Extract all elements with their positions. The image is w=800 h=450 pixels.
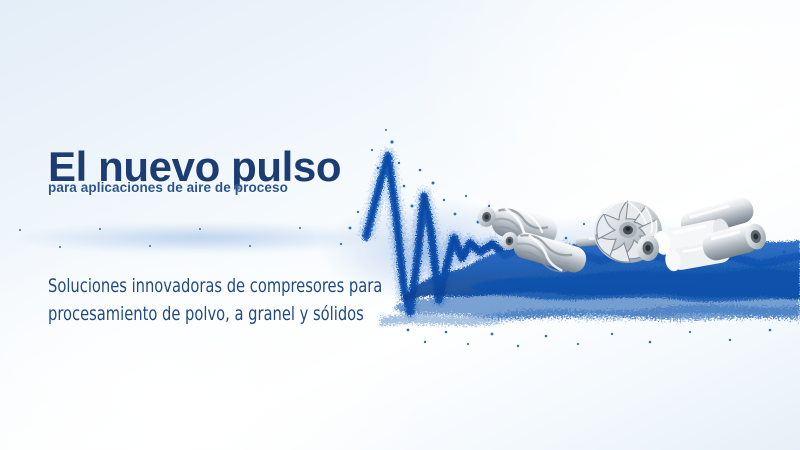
pulse-baseline (0, 237, 370, 238)
body-copy-line-2: procesamiento de polvo, a granel y sólid… (48, 300, 382, 328)
pulse-graphic (0, 0, 800, 450)
body-copy-line-1: Soluciones innovadoras de compresores pa… (48, 272, 382, 300)
subtitle: para aplicaciones de aire de proceso (48, 180, 288, 195)
hero-banner: El nuevo pulso para aplicaciones de aire… (0, 0, 800, 450)
body-copy: Soluciones innovadoras de compresores pa… (48, 272, 382, 328)
